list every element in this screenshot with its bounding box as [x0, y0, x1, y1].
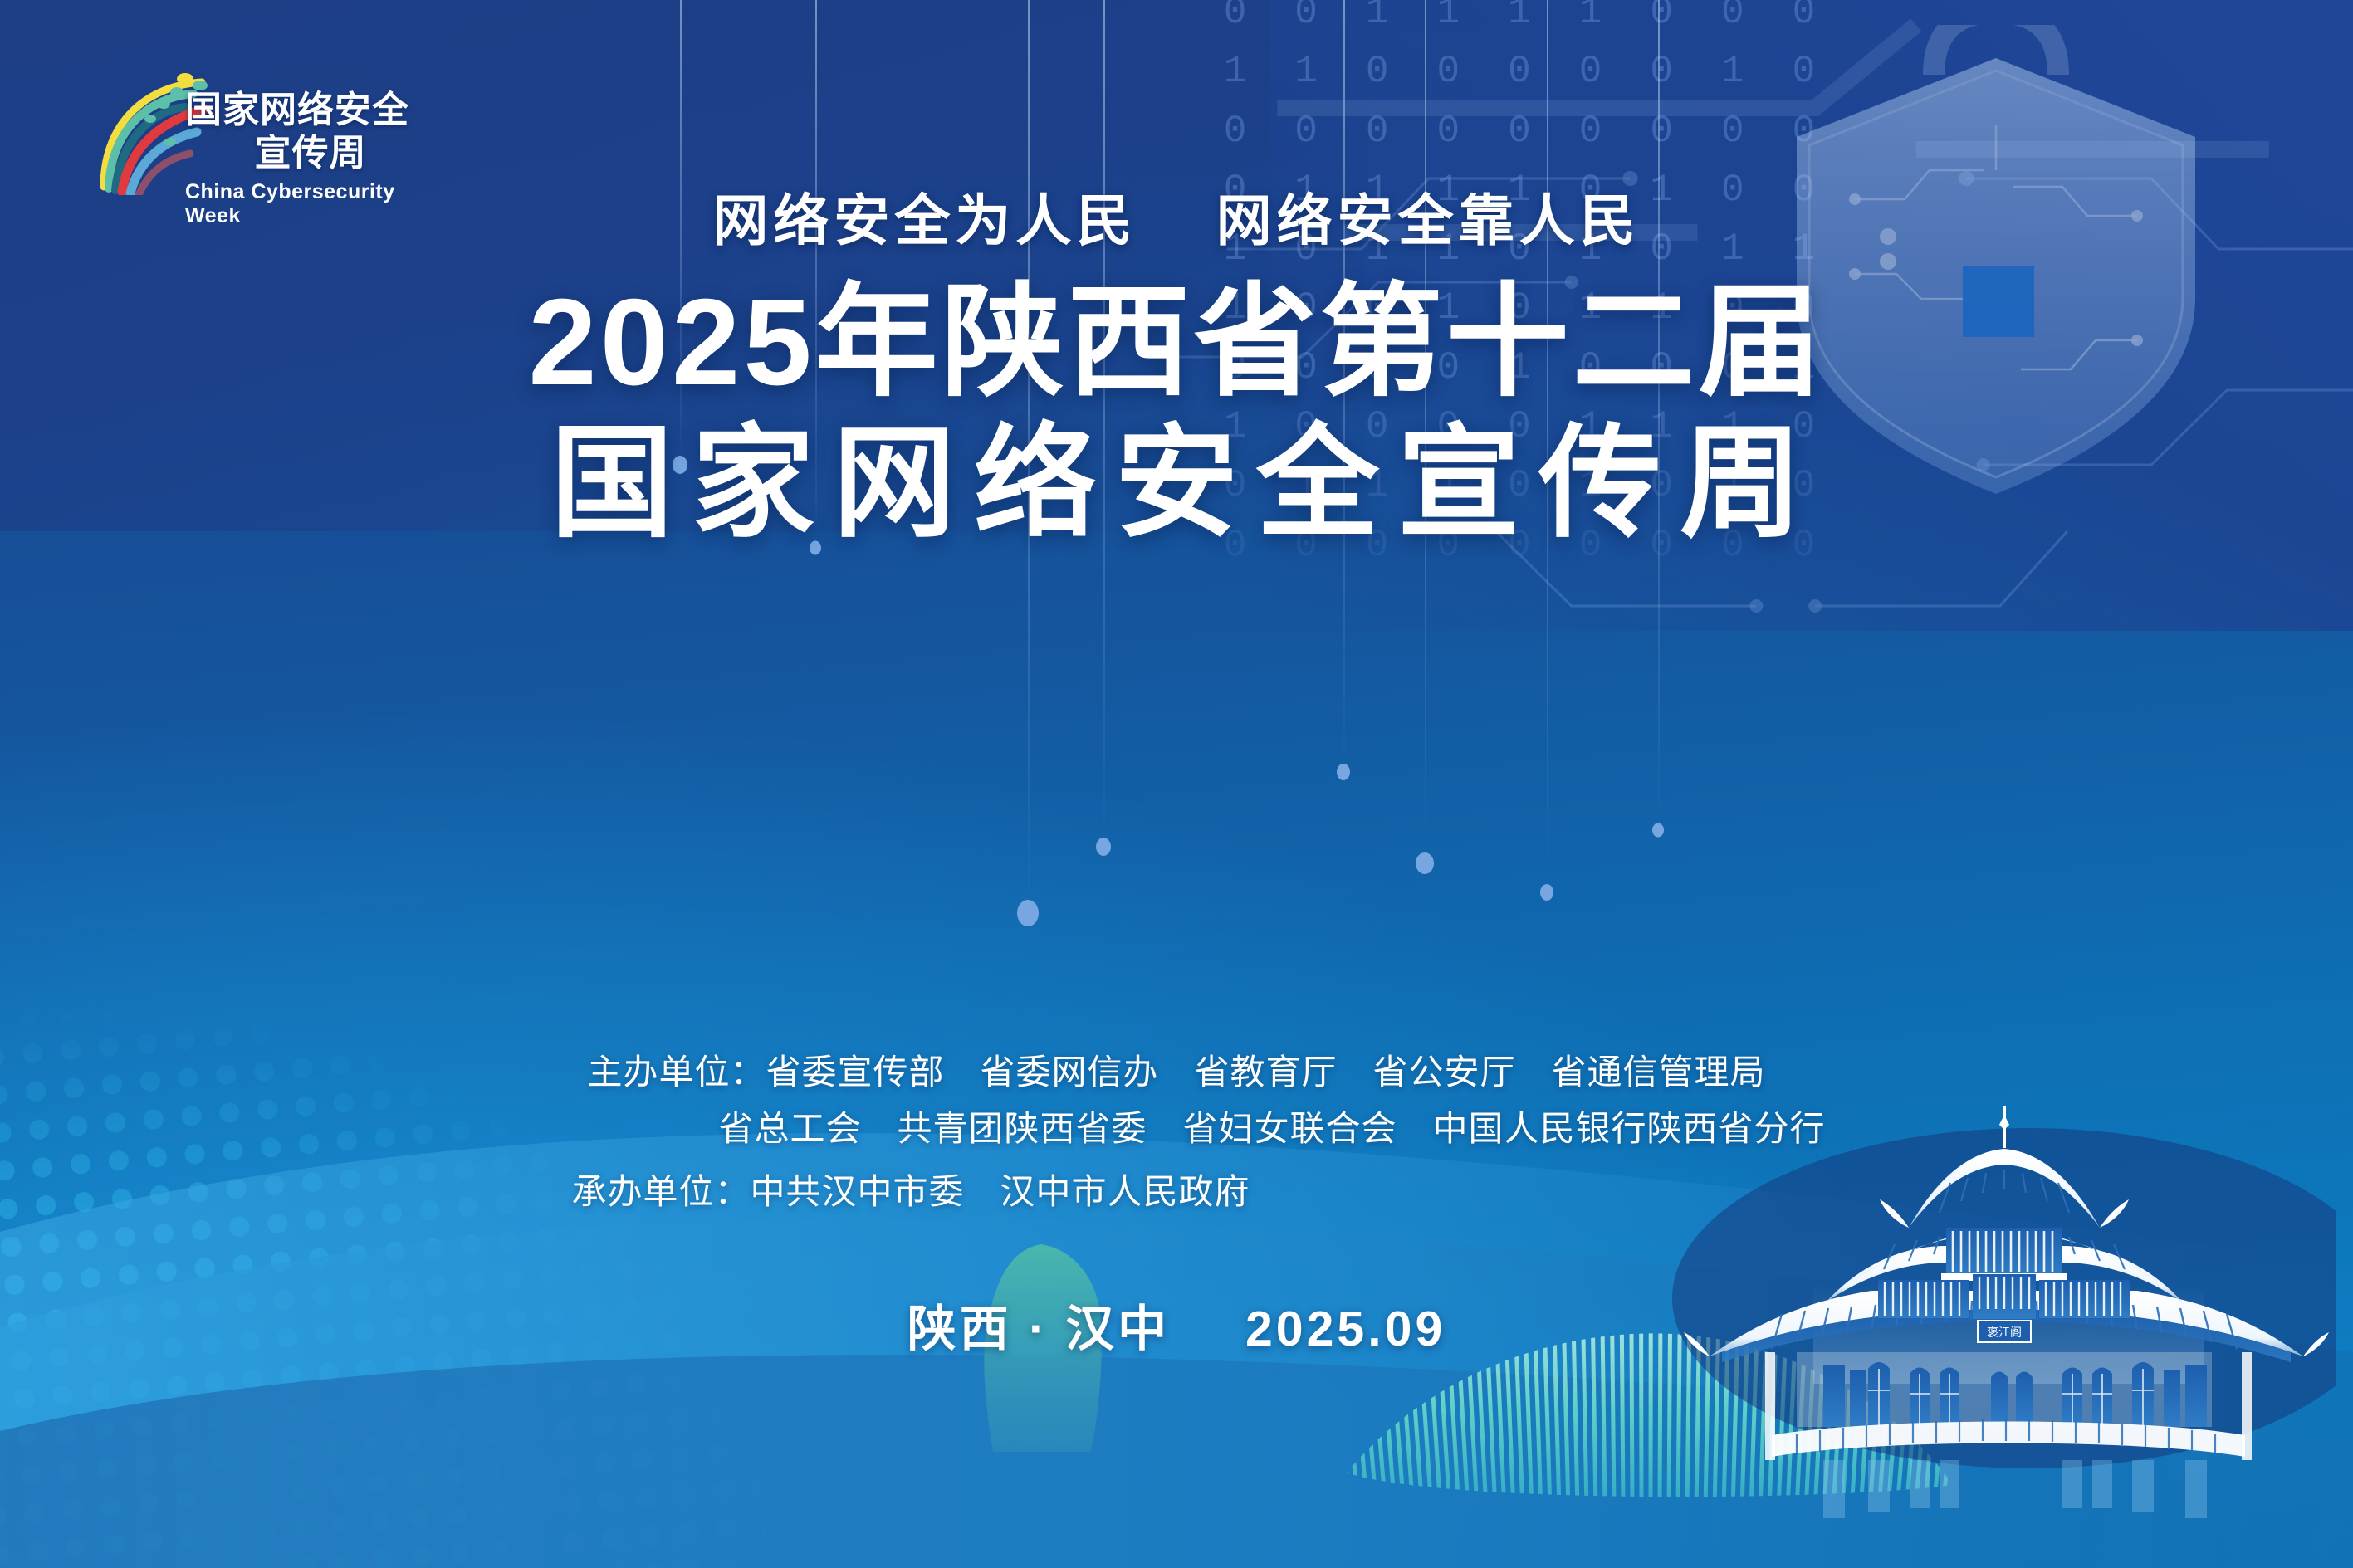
poster-canvas: 0 1 0 0 1 1 0 1 0 0 0 1 0 1 0 0 0 0 1 0 …	[0, 0, 2353, 1568]
organizer-row: 承办单位：中共汉中市委 汉中市人民政府	[0, 1164, 2353, 1220]
tagline-right: 网络安全靠人民	[1216, 190, 1641, 252]
title-line-1: 2025年陕西省第十二届	[0, 274, 2353, 412]
organizer-line: 中共汉中市委 汉中市人民政府	[751, 1172, 1250, 1211]
host-row-1: 主办单位：省委宣传部 省委网信办 省教育厅 省公安厅 省通信管理局	[0, 1044, 2353, 1101]
host-line-2: 省总工会 共青团陕西省委 省妇女联合会 中国人民银行陕西省分行	[718, 1109, 1825, 1148]
host-label: 主办单位：	[587, 1053, 766, 1092]
footer-date: 2025.09	[1245, 1302, 1446, 1356]
footer-location: 陕西 · 汉中	[907, 1302, 1170, 1356]
organizer-label: 承办单位：	[571, 1172, 750, 1211]
logo-text-line2: 宣传周	[185, 132, 436, 175]
title-line-2: 国家网络安全宣传周	[0, 415, 2353, 553]
tagline-left: 网络安全为人民	[712, 190, 1137, 252]
poster-footer: 陕西 · 汉中 2025.09	[0, 1289, 2353, 1360]
poster-tagline: 网络安全为人民 网络安全靠人民	[0, 176, 2353, 256]
poster-title: 2025年陕西省第十二届 国家网络安全宣传周	[0, 274, 2353, 553]
organizers-block: 主办单位：省委宣传部 省委网信办 省教育厅 省公安厅 省通信管理局 省总工会 共…	[0, 1044, 2353, 1220]
logo-text-line1: 国家网络安全	[185, 89, 436, 132]
host-row-2: 省总工会 共青团陕西省委 省妇女联合会 中国人民银行陕西省分行	[0, 1101, 2353, 1157]
host-line-1: 省委宣传部 省委网信办 省教育厅 省公安厅 省通信管理局	[766, 1053, 1766, 1092]
